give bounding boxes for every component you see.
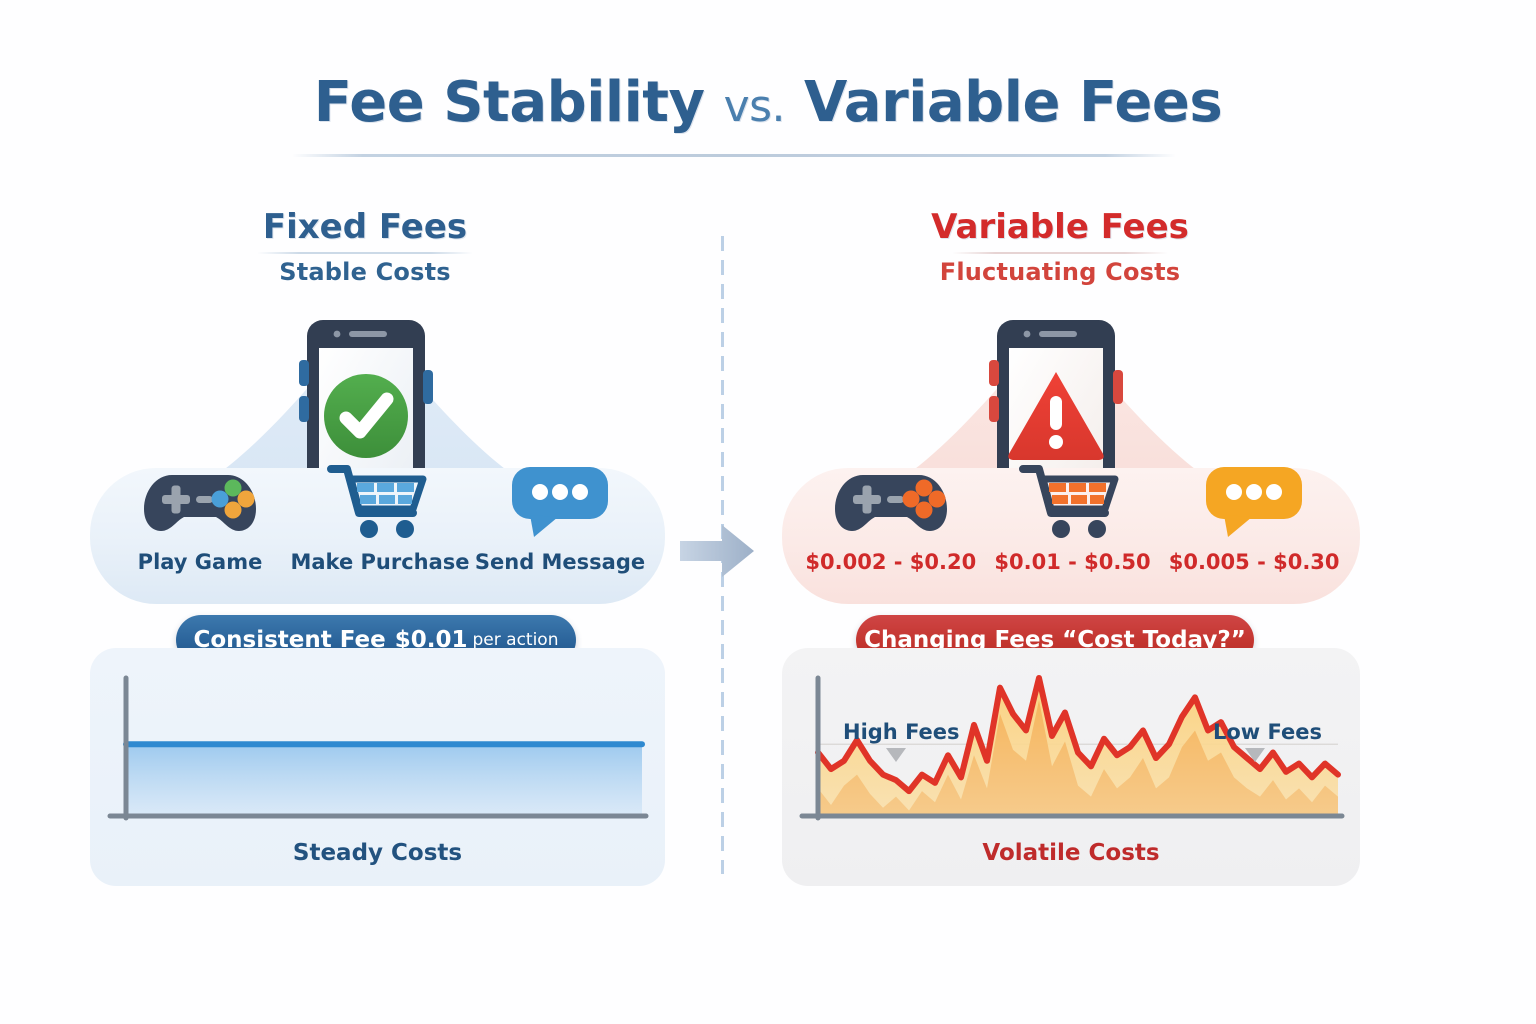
fee-range-play-game[interactable]: $0.002 - $0.20: [801, 462, 981, 574]
volatile-costs-chart: [796, 672, 1348, 837]
right-actions-row: $0.002 - $0.20 $0.01 - $0.50: [800, 462, 1345, 602]
right-heading-divider: [952, 252, 1168, 254]
steady-costs-chart: [104, 672, 652, 837]
action-label: Play Game: [138, 550, 263, 574]
fee-range-make-purchase[interactable]: $0.01 - $0.50: [982, 462, 1162, 574]
left-column-header: Fixed Fees Stable Costs: [155, 208, 575, 286]
high-fees-marker-icon: [886, 748, 906, 762]
left-heading: Fixed Fees: [155, 208, 575, 247]
low-fees-marker-icon: [1245, 748, 1265, 762]
fee-range-label: $0.005 - $0.30: [1169, 550, 1340, 574]
arrow-right-icon: [678, 523, 756, 579]
steady-costs-caption: Steady Costs: [90, 840, 665, 866]
fee-range-label: $0.01 - $0.50: [994, 550, 1150, 574]
title-vs: vs.: [724, 81, 785, 132]
title-part-1: Fee Stability: [314, 70, 705, 135]
low-fees-annotation: Low Fees: [1213, 720, 1322, 744]
banner-unit: per action: [473, 630, 559, 650]
right-subheading: Fluctuating Costs: [850, 258, 1270, 286]
left-actions-row: Play Game Make Purchase: [110, 462, 650, 602]
page-title: Fee Stability vs. Variable Fees: [0, 72, 1536, 134]
speech-bubble-icon: [1200, 462, 1308, 540]
right-column-header: Variable Fees Fluctuating Costs: [850, 208, 1270, 286]
action-play-game[interactable]: Play Game: [110, 462, 290, 574]
infographic-canvas: Fee Stability vs. Variable Fees Fixed Fe…: [0, 0, 1536, 1024]
speech-bubble-icon: [506, 462, 614, 540]
shopping-cart-icon: [1017, 462, 1127, 540]
action-label: Make Purchase: [290, 550, 469, 574]
title-part-2: Variable Fees: [804, 70, 1222, 135]
title-underline-divider: [292, 154, 1176, 157]
gamepad-icon: [831, 462, 951, 540]
action-send-message[interactable]: Send Message: [470, 462, 650, 574]
fee-range-label: $0.002 - $0.20: [805, 550, 976, 574]
left-heading-divider: [257, 252, 473, 254]
action-label: Send Message: [475, 550, 645, 574]
volatile-costs-caption: Volatile Costs: [782, 840, 1360, 866]
shopping-cart-icon: [325, 462, 435, 540]
high-fees-annotation: High Fees: [843, 720, 960, 744]
fee-range-send-message[interactable]: $0.005 - $0.30: [1164, 462, 1344, 574]
left-subheading: Stable Costs: [155, 258, 575, 286]
right-heading: Variable Fees: [850, 208, 1270, 247]
gamepad-icon: [140, 462, 260, 540]
action-make-purchase[interactable]: Make Purchase: [290, 462, 470, 574]
